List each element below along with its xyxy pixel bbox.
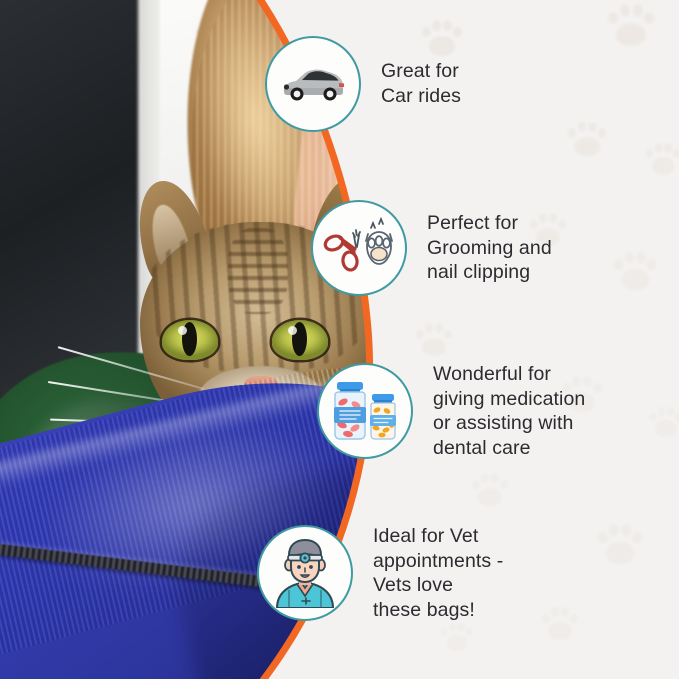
car-icon (278, 61, 348, 107)
feature-label: Wonderful for giving medication or assis… (433, 362, 585, 460)
product-feature-infographic: Great for Car rides (0, 0, 679, 679)
feature-item-medication[interactable]: Wonderful for giving medication or assis… (317, 362, 585, 460)
feature-icon-circle (265, 36, 361, 132)
nail-clippers-paw-icon (323, 216, 395, 280)
feature-icon-circle (311, 200, 407, 296)
feature-icon-circle (257, 525, 353, 621)
feature-icon-circle (317, 363, 413, 459)
feature-label: Perfect for Grooming and nail clipping (427, 211, 552, 285)
feature-item-vet-appointments[interactable]: Ideal for Vet appointments - Vets love t… (257, 524, 503, 622)
feature-item-car-rides[interactable]: Great for Car rides (265, 36, 461, 132)
feature-list: Great for Car rides (259, 0, 679, 679)
cat-eye-glint-left (178, 326, 187, 335)
feature-label: Ideal for Vet appointments - Vets love t… (373, 524, 503, 622)
pill-bottles-icon (328, 380, 402, 442)
feature-item-grooming[interactable]: Perfect for Grooming and nail clipping (311, 200, 552, 296)
feature-label: Great for Car rides (381, 59, 461, 108)
veterinarian-icon (269, 538, 341, 608)
